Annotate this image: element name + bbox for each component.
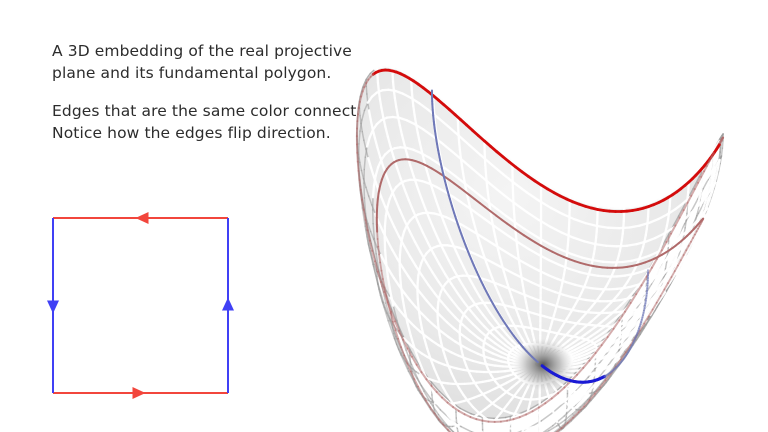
fundamental-polygon-svg: [20, 185, 270, 415]
caption-line-2: plane and its fundamental polygon.: [52, 62, 382, 84]
polygon-arrow-bottom: [133, 387, 146, 399]
projective-plane-surface-svg: [340, 8, 760, 428]
illustration-page: A 3D embedding of the real projective pl…: [0, 0, 768, 432]
caption-spacer: [52, 84, 382, 100]
polygon-arrow-left: [47, 301, 59, 314]
projective-plane-surface-figure: [340, 8, 760, 428]
fundamental-polygon-figure: [20, 185, 270, 415]
caption-block: A 3D embedding of the real projective pl…: [52, 40, 382, 144]
caption-line-1: A 3D embedding of the real projective: [52, 40, 382, 62]
caption-line-3: Edges that are the same color connect.: [52, 100, 382, 122]
caption-line-4: Notice how the edges flip direction.: [52, 122, 382, 144]
polygon-arrow-top: [136, 212, 149, 224]
polygon-arrow-right: [222, 298, 234, 311]
